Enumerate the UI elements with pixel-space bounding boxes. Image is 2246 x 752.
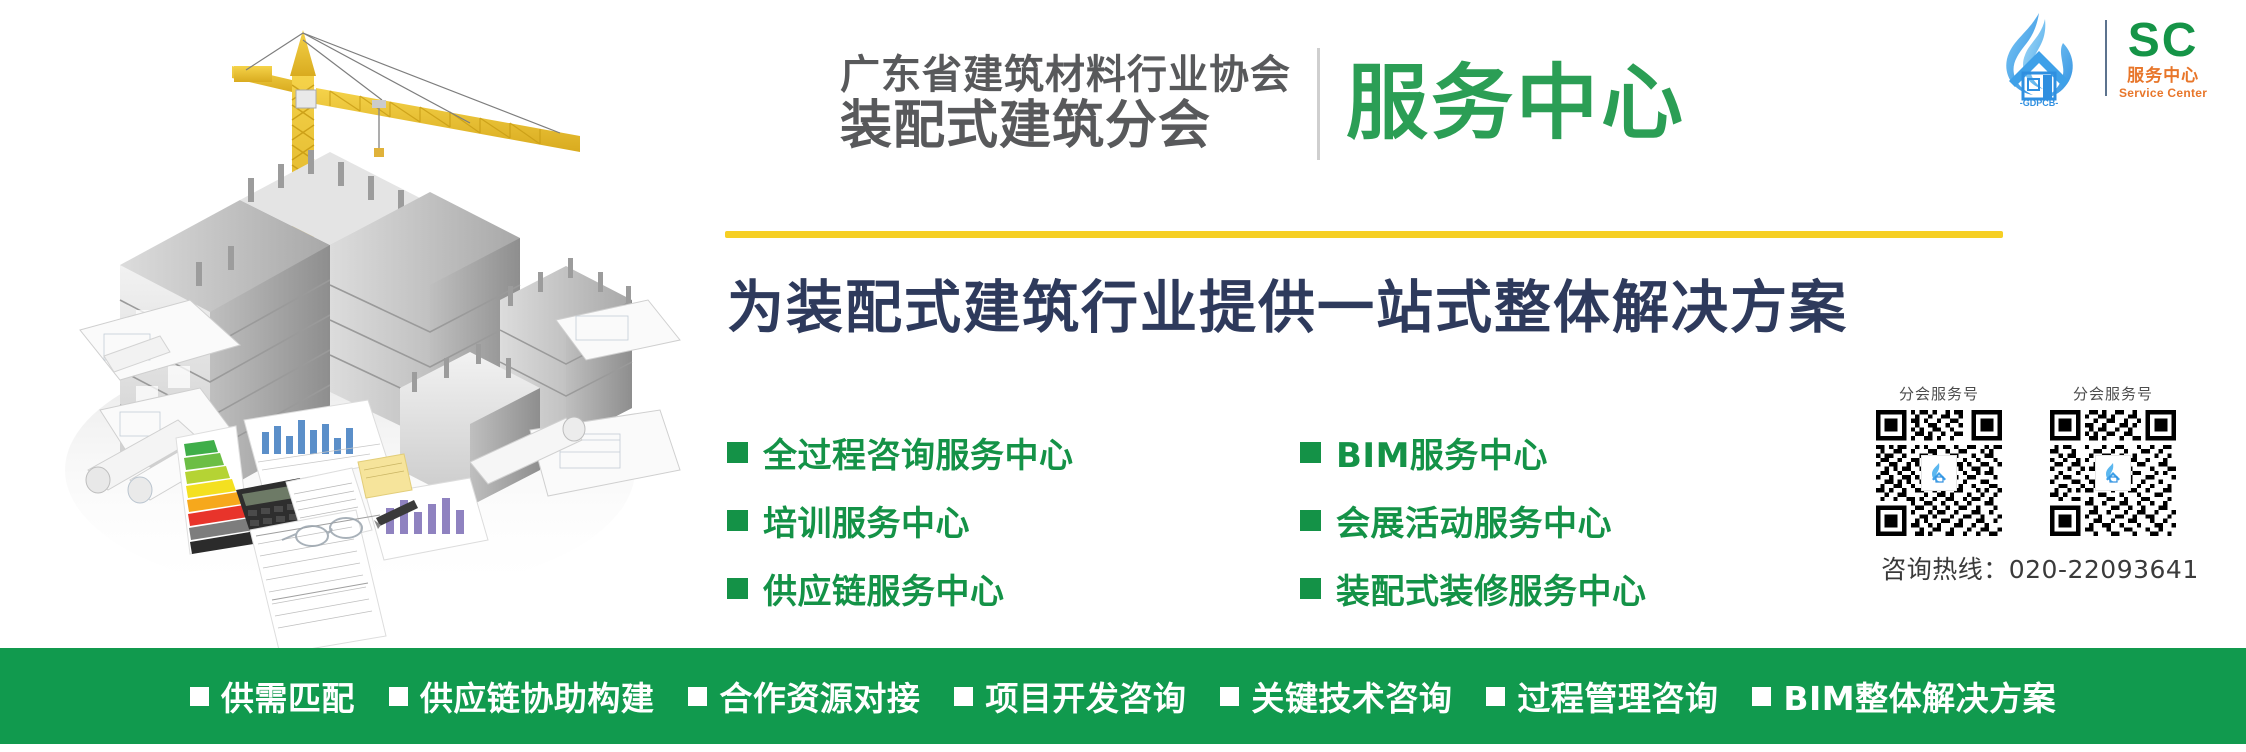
- logo-divider: [2105, 20, 2107, 96]
- service-item[interactable]: 供应链服务中心: [727, 554, 1074, 622]
- qr-caption: 分会服务号: [1899, 383, 1979, 404]
- sc-chinese-label: 服务中心: [2127, 68, 2199, 85]
- main-headline: 为装配式建筑行业提供一站式整体解决方案: [727, 262, 1848, 344]
- service-item[interactable]: 全过程咨询服务中心: [727, 418, 1074, 486]
- bullet-square-icon: [727, 442, 748, 463]
- bullet-square-icon: [688, 687, 707, 706]
- bar-item-label: 关键技术咨询: [1251, 672, 1452, 720]
- organization-names: 广东省建筑材料行业协会 装配式建筑分会: [840, 55, 1291, 153]
- title-block: 广东省建筑材料行业协会 装配式建筑分会 服务中心: [840, 38, 1686, 170]
- bar-item-label: BIM整体解决方案: [1783, 672, 2056, 720]
- bullet-square-icon: [1300, 578, 1321, 599]
- bullet-square-icon: [1752, 687, 1771, 706]
- brand-logo-block: -GDPCB- SC 服务中心 Service Center: [1985, 8, 2240, 108]
- sc-english-label: Service Center: [2119, 87, 2207, 99]
- bottom-bar-items: 供需匹配 供应链协助构建 合作资源对接 项目开发咨询 关键技术咨询 过程管理咨询: [190, 672, 2056, 720]
- service-center-title: 服务中心: [1346, 63, 1686, 145]
- qr-row: 分会服务号: [1865, 383, 2215, 536]
- bar-item[interactable]: 合作资源对接: [688, 672, 920, 720]
- bar-item[interactable]: 供需匹配: [190, 672, 355, 720]
- qr-cell: 分会服务号: [1865, 383, 2013, 536]
- association-name: 广东省建筑材料行业协会: [840, 55, 1291, 96]
- service-item[interactable]: 培训服务中心: [727, 486, 1074, 554]
- qr-contact-area: 分会服务号: [1865, 383, 2215, 586]
- bullet-square-icon: [389, 687, 408, 706]
- sc-letters: SC: [2128, 17, 2199, 65]
- service-item-label: 装配式装修服务中心: [1336, 564, 1647, 613]
- bullet-square-icon: [954, 687, 973, 706]
- service-item-label: BIM服务中心: [1336, 428, 1548, 477]
- qr-caption: 分会服务号: [2073, 383, 2153, 404]
- yellow-divider-rule: [725, 231, 2003, 238]
- qr-center-logo-icon: [2095, 455, 2131, 491]
- service-item-label: 供应链服务中心: [763, 564, 1005, 613]
- sc-lockup: SC 服务中心 Service Center: [2119, 17, 2207, 99]
- hotline-text: 咨询热线：020-22093641: [1865, 550, 2215, 586]
- service-list-right: BIM服务中心 会展活动服务中心 装配式装修服务中心: [1300, 418, 1647, 622]
- bullet-square-icon: [1220, 687, 1239, 706]
- service-item-label: 培训服务中心: [763, 496, 970, 545]
- service-list-left: 全过程咨询服务中心 培训服务中心 供应链服务中心: [727, 418, 1074, 622]
- qr-cell: 分会服务号: [2039, 383, 2187, 536]
- bar-item[interactable]: 过程管理咨询: [1486, 672, 1718, 720]
- banner-root: -GDPCB- SC 服务中心 Service Center 广东省建筑材料行业…: [0, 0, 2246, 752]
- bullet-square-icon: [1300, 442, 1321, 463]
- service-item-label: 会展活动服务中心: [1336, 496, 1612, 545]
- bar-item[interactable]: 供应链协助构建: [389, 672, 655, 720]
- bottom-white-edge: [0, 744, 2246, 752]
- qr-code-image-2[interactable]: [2050, 410, 2176, 536]
- hero-construction-image: [0, 0, 700, 650]
- bar-item-label: 供需匹配: [221, 672, 355, 720]
- bullet-square-icon: [190, 687, 209, 706]
- bullet-square-icon: [727, 578, 748, 599]
- bar-item-label: 过程管理咨询: [1517, 672, 1718, 720]
- qr-code-image-1[interactable]: [1876, 410, 2002, 536]
- bar-item-label: 项目开发咨询: [985, 672, 1186, 720]
- service-item-label: 全过程咨询服务中心: [763, 428, 1074, 477]
- bullet-square-icon: [1486, 687, 1505, 706]
- service-item[interactable]: 会展活动服务中心: [1300, 486, 1647, 554]
- bar-item-label: 合作资源对接: [719, 672, 920, 720]
- branch-name: 装配式建筑分会: [840, 100, 1291, 153]
- bullet-square-icon: [727, 510, 748, 531]
- title-divider: [1317, 48, 1320, 160]
- bullet-square-icon: [1300, 510, 1321, 531]
- bottom-service-bar: 供需匹配 供应链协助构建 合作资源对接 项目开发咨询 关键技术咨询 过程管理咨询: [0, 648, 2246, 744]
- qr-center-logo-icon: [1921, 455, 1957, 491]
- service-item[interactable]: BIM服务中心: [1300, 418, 1647, 486]
- bar-item[interactable]: 关键技术咨询: [1220, 672, 1452, 720]
- bar-item[interactable]: BIM整体解决方案: [1752, 672, 2056, 720]
- gdpcb-caption: -GDPCB-: [2020, 98, 2059, 107]
- service-item[interactable]: 装配式装修服务中心: [1300, 554, 1647, 622]
- gdpcb-flame-house-icon: -GDPCB-: [1985, 9, 2093, 107]
- bar-item-label: 供应链协助构建: [420, 672, 655, 720]
- bar-item[interactable]: 项目开发咨询: [954, 672, 1186, 720]
